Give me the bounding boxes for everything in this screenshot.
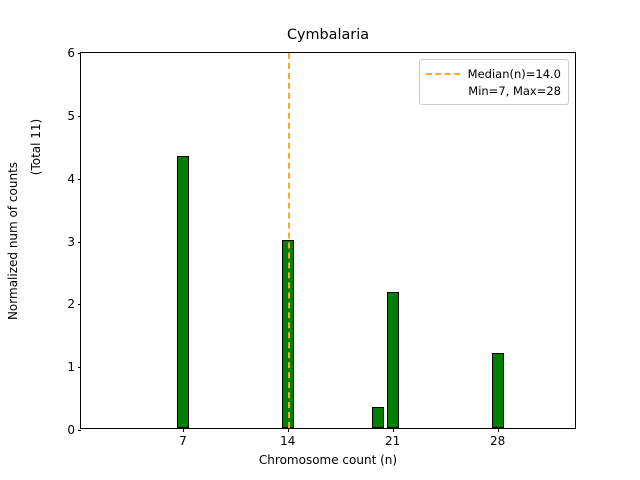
y-tick-mark [78,430,82,431]
y-tick-label: 2 [67,298,75,310]
x-tick-mark [498,428,499,432]
y-axis-total-label: (Total 11) [29,119,43,175]
y-tick-mark [78,304,82,305]
chart-figure: Cymbalaria Normalized num of counts (Tot… [0,0,640,480]
x-tick-label: 14 [280,434,295,448]
y-tick-mark [78,367,82,368]
chart-legend: Median(n)=14.0 Min=7, Max=28 [419,59,569,105]
y-tick-label: 1 [67,361,75,373]
median-line [288,53,290,428]
y-axis-label-container: Normalized num of counts [0,52,26,429]
y-tick-label: 6 [67,47,75,59]
y-tick-mark [78,242,82,243]
legend-item-minmax: Min=7, Max=28 [426,82,561,99]
y-tick-label: 5 [67,110,75,122]
legend-item-label: Median(n)=14.0 [468,67,561,81]
y-axis-label: Normalized num of counts [6,161,20,319]
y-tick-mark [78,179,82,180]
annotation-lines-layer [81,53,575,428]
x-axis-label: Chromosome count (n) [80,453,576,467]
x-tick-label: 28 [490,434,505,448]
x-tick-mark [393,428,394,432]
legend-item-median: Median(n)=14.0 [426,65,561,82]
page-title: Cymbalaria [80,26,576,44]
y-tick-mark [78,116,82,117]
plot-area: 0123456 7142128 Median(n)=14.0 Min=7, Ma… [80,52,576,429]
y-tick-label: 3 [67,236,75,248]
y-tick-label: 0 [67,424,75,436]
y-axis-sublabel-container: (Total 11) [26,52,46,242]
x-tick-mark [183,428,184,432]
legend-item-label: Min=7, Max=28 [468,84,561,98]
y-tick-mark [78,53,82,54]
y-tick-label: 4 [67,173,75,185]
dashed-line-icon [426,73,460,75]
x-tick-label: 21 [385,434,400,448]
x-tick-mark [288,428,289,432]
x-tick-label: 7 [179,434,187,448]
